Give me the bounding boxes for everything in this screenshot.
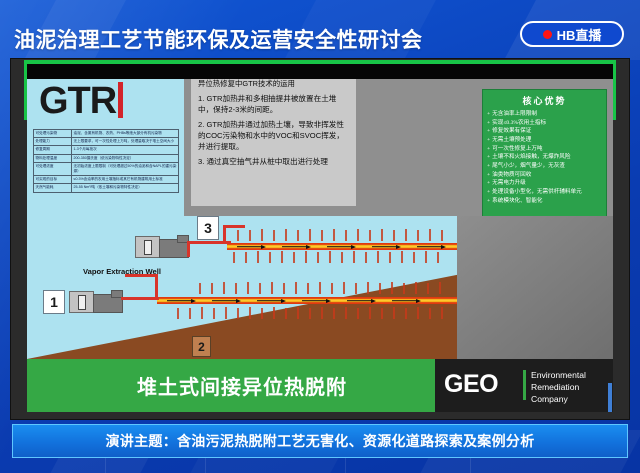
flow-arrow-icon — [306, 245, 311, 249]
well-cabinet-panel — [78, 295, 86, 310]
plus-icon: + — [487, 162, 490, 171]
heater-pipe-upper — [227, 243, 457, 250]
callout-1: 1 — [43, 290, 65, 314]
advantages-title: 核心优势 — [487, 94, 602, 107]
callout-2: 2 — [192, 336, 211, 357]
spec-value: ≤0.3%含油率的农用土壤指标或其它有机物建筑用土标准 — [72, 176, 179, 184]
flow-dash — [257, 300, 281, 302]
live-stream-badge[interactable]: HB直播 — [520, 21, 624, 47]
advantage-label: 尾气小少，烟气量少，无灰渣 — [492, 162, 565, 171]
plus-icon: + — [487, 145, 490, 154]
spec-table: 可处理污染物 油泥、含氯有机物、农药、PHBs等绝大部分有机污染物 处理能力 无… — [33, 129, 179, 193]
geo-tagline-line3: Company — [531, 393, 586, 405]
list-item: + 系统模块化、智能化 — [487, 197, 602, 206]
list-item: + 无需土壤预处理 — [487, 136, 602, 145]
live-dot-icon — [543, 30, 552, 39]
table-row: 处理能力 无上限要求，可一次性处理上万吨，处理量取决于堆土空间大小 — [34, 138, 179, 146]
process-description-panel: 异位热修复中GTR技术的运用 1. GTR加热井和多相抽提井被放置在土堆中，保持… — [191, 72, 356, 206]
page-title: 油泥治理工艺节能环保及运营安全性研讨会 — [14, 24, 423, 54]
plus-icon: + — [487, 188, 490, 197]
geo-logo: GEO Environmental Remediation Company — [430, 359, 613, 412]
well-control-cabinet — [69, 291, 94, 313]
advantage-label: 无需电力升级 — [492, 179, 526, 188]
well-top-pipe — [223, 225, 245, 228]
process-step: 3. 通过真空抽气井从桩中取出进行处理 — [198, 156, 350, 167]
spec-key: 可处理浓度 — [34, 162, 72, 175]
process-description-title: 异位热修复中GTR技术的运用 — [198, 78, 350, 89]
geo-tagline-line2: Remediation — [531, 381, 586, 393]
footer-caption-text: 演讲主题：含油污泥热脱附工艺无害化、资源化道路探索及案例分析 — [106, 431, 535, 451]
flow-arrow-icon — [261, 245, 266, 249]
well-cabinet-panel — [144, 240, 152, 255]
advantage-label: 无需土壤预处理 — [492, 136, 531, 145]
plus-icon: + — [487, 136, 490, 145]
flow-arrow-icon — [351, 245, 356, 249]
plus-icon: + — [487, 171, 490, 180]
flow-dash — [392, 300, 416, 302]
advantage-label: 可一次性修复上万吨 — [492, 145, 542, 154]
geo-right-accent — [608, 383, 612, 412]
flow-arrow-icon — [371, 299, 376, 303]
flow-dash — [372, 246, 396, 248]
process-step: 2. GTR加热井通过加热土壤，导致非挥发性的COC污染物和水中的VOC和SVO… — [198, 119, 350, 152]
geo-tagline: Environmental Remediation Company — [531, 369, 586, 406]
flow-dash — [237, 246, 261, 248]
flow-dash — [417, 246, 441, 248]
process-diagram: 3 1 Vapor Extraction Well 2 — [27, 216, 457, 359]
well-riser — [187, 241, 190, 257]
spec-value: 无初始浓度上限限制（可处理超过50%的油泥和含NAPL的重污染源） — [72, 162, 179, 175]
spec-key: 可实现的目标 — [34, 176, 72, 184]
advantage-label: 无含油率上限限制 — [492, 110, 537, 119]
flow-dash — [302, 300, 326, 302]
list-item: + 土壤不和火焰接触，无爆炸风险 — [487, 153, 602, 162]
table-row: 天然气能耗 25-55 Nm³/吨（依土壤和污染物特性决定） — [34, 184, 179, 192]
spec-value: 油泥、含氯有机物、农药、PHBs等绝大部分有机污染物 — [72, 130, 179, 138]
live-badge-label: HB直播 — [557, 25, 602, 44]
table-row: 可实现的目标 ≤0.3%含油率的农用土壤指标或其它有机物建筑用土标准 — [34, 176, 179, 184]
plus-icon: + — [487, 197, 490, 206]
header-bar: 油泥治理工艺节能环保及运营安全性研讨会 HB直播 — [0, 0, 640, 58]
advantage-label: 系统模块化、智能化 — [492, 197, 542, 206]
flow-arrow-icon — [396, 245, 401, 249]
flow-arrow-icon — [191, 299, 196, 303]
geo-separator — [523, 370, 526, 400]
table-row: 修复周期 1-3个月每批次 — [34, 146, 179, 154]
flow-arrow-icon — [236, 299, 241, 303]
list-item: + 可一次性修复上万吨 — [487, 145, 602, 154]
well-vertical-pipe — [155, 274, 158, 298]
presentation-slide[interactable]: GTR 可处理污染物 油泥、含氯有机物、农药、PHBs等绝大部分有机污染物 处理… — [27, 64, 613, 412]
slide-caption-text: 堆土式间接异位热脱附 — [137, 371, 347, 400]
plus-icon: + — [487, 119, 490, 128]
flow-arrow-icon — [441, 245, 446, 249]
gtr-logo: GTR — [39, 82, 123, 120]
geo-wordmark: GEO — [444, 370, 498, 399]
gtr-logo-text: GTR — [39, 82, 116, 120]
plus-icon: + — [487, 153, 490, 162]
plus-icon: + — [487, 127, 490, 136]
spec-key: 物料处理温度 — [34, 154, 72, 162]
spec-value: 200-350摄氏度（依污染物特性决定） — [72, 154, 179, 162]
well-control-cabinet — [135, 236, 160, 258]
flow-arrow-icon — [281, 299, 286, 303]
footer-caption-bar: 演讲主题：含油污泥热脱附工艺无害化、资源化道路探索及案例分析 — [12, 424, 628, 458]
slide-caption-bar: 堆土式间接异位热脱附 — [27, 359, 457, 412]
list-item: + 油类物质可回收 — [487, 171, 602, 180]
well-pipe — [121, 297, 159, 300]
flow-dash — [327, 246, 351, 248]
extraction-well-lower — [69, 288, 189, 318]
flow-dash — [282, 246, 306, 248]
heater-pipe-lower — [157, 297, 457, 304]
geo-tagline-line1: Environmental — [531, 369, 586, 381]
process-step: 1. GTR加热井和多相抽提井被放置在土堆中，保持2-3米的间距。 — [198, 93, 350, 115]
slide-frame-left — [24, 60, 27, 120]
flow-dash — [212, 300, 236, 302]
gtr-logo-accent-bar — [118, 82, 123, 118]
spec-key: 处理能力 — [34, 138, 72, 146]
advantage-label: 土壤不和火焰接触，无爆炸风险 — [492, 153, 570, 162]
geo-accent-bar — [430, 359, 435, 412]
list-item: + 实现≤0.3%农用土指标 — [487, 119, 602, 128]
advantage-label: 修复效果有保证 — [492, 127, 531, 136]
well-label: Vapor Extraction Well — [83, 267, 161, 276]
slide-top-black-band — [27, 63, 613, 79]
plus-icon: + — [487, 179, 490, 188]
advantage-label: 油类物质可回收 — [492, 171, 531, 180]
slide-gray-right — [457, 216, 613, 359]
extraction-well-upper — [135, 234, 235, 262]
flow-arrow-icon — [416, 299, 421, 303]
list-item: + 无需电力升级 — [487, 179, 602, 188]
spec-key: 天然气能耗 — [34, 184, 72, 192]
app-root: 油泥治理工艺节能环保及运营安全性研讨会 HB直播 GTR 可处理污染物 油泥、含… — [0, 0, 640, 473]
slide-frame-top — [24, 60, 616, 64]
advantages-panel: 核心优势 + 无含油率上限限制 + 实现≤0.3%农用土指标 + 修复效果有保证… — [482, 89, 607, 229]
spec-value: 无上限要求，可一次性处理上万吨，处理量取决于堆土空间大小 — [72, 138, 179, 146]
table-row: 物料处理温度 200-350摄氏度（依污染物特性决定） — [34, 154, 179, 162]
spec-value: 1-3个月每批次 — [72, 146, 179, 154]
list-item: + 修复效果有保证 — [487, 127, 602, 136]
table-row: 可处理浓度 无初始浓度上限限制（可处理超过50%的油泥和含NAPL的重污染源） — [34, 162, 179, 175]
spec-value: 25-55 Nm³/吨（依土壤和污染物特性决定） — [72, 184, 179, 192]
advantage-label: 实现≤0.3%农用土指标 — [492, 119, 546, 128]
advantage-label: 处理设备小型化，无需供杆辅料单元 — [492, 188, 582, 197]
spec-key: 可处理污染物 — [34, 130, 72, 138]
spec-key: 修复周期 — [34, 146, 72, 154]
table-row: 可处理污染物 油泥、含氯有机物、农药、PHBs等绝大部分有机污染物 — [34, 130, 179, 138]
list-item: + 处理设备小型化，无需供杆辅料单元 — [487, 188, 602, 197]
flow-dash — [347, 300, 371, 302]
slide-frame-right — [613, 60, 616, 120]
list-item: + 无含油率上限限制 — [487, 110, 602, 119]
list-item: + 尾气小少，烟气量少，无灰渣 — [487, 162, 602, 171]
plus-icon: + — [487, 110, 490, 119]
flow-arrow-icon — [326, 299, 331, 303]
callout-3: 3 — [197, 216, 219, 240]
